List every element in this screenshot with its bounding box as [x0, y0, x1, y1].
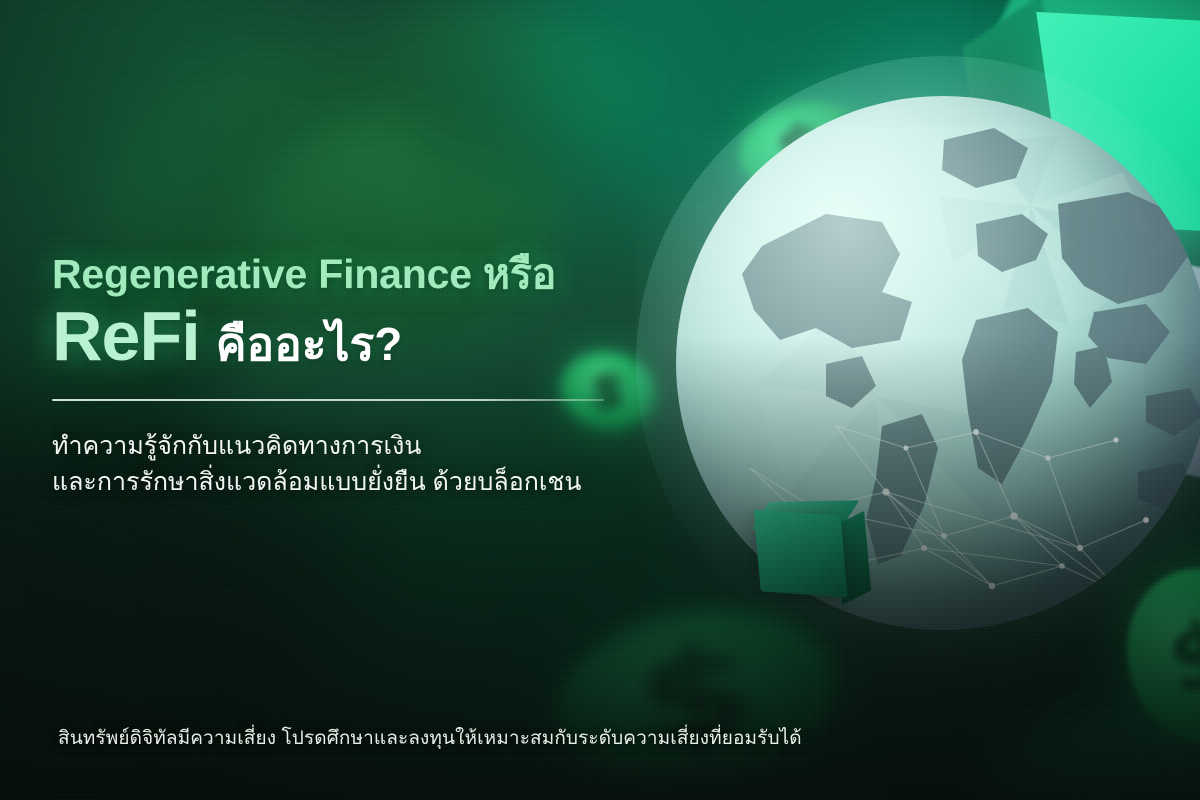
refi-wordmark: ReFi — [52, 300, 200, 374]
subtitle: ทำความรู้จักกับแนวคิดทางการเงิน และการรั… — [52, 429, 732, 500]
refi-promo-banner: $ $ — [0, 0, 1200, 800]
headline-line-2: ReFi คืออะไร? — [52, 300, 732, 374]
subtitle-line-2: และการรักษาสิ่งแวดล้อมแบบยั่งยืน ด้วยบล็… — [52, 465, 732, 501]
risk-disclaimer: สินทรัพย์ดิจิทัลมีความเสี่ยง โปรดศึกษาแล… — [58, 723, 802, 753]
headline-line-1: Regenerative Finance หรือ — [52, 252, 732, 298]
divider-line — [52, 399, 604, 401]
banner-text-block: Regenerative Finance หรือ ReFi คืออะไร? … — [52, 252, 732, 500]
subtitle-line-1: ทำความรู้จักกับแนวคิดทางการเงิน — [52, 429, 732, 465]
headline-question: คืออะไร? — [216, 320, 403, 368]
